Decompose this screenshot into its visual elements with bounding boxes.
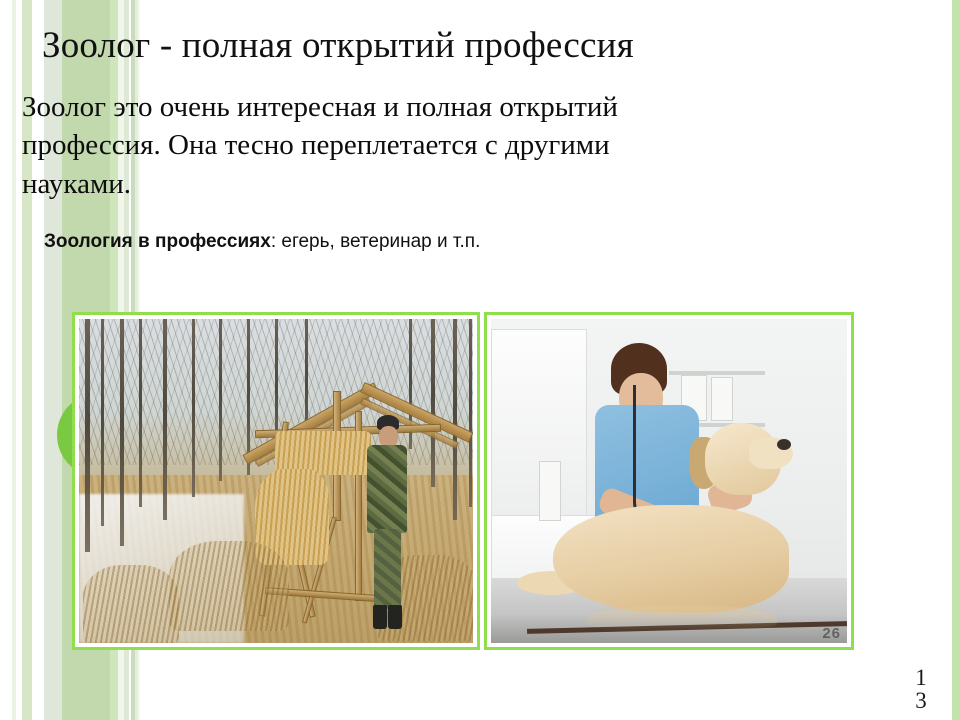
dry-grass [83,565,179,643]
clinic-supply-box [711,377,733,421]
dog-nose [777,439,791,450]
professions-note-text: : егерь, ветеринар и т.п. [271,231,481,252]
picture-group: 26 [72,312,854,650]
dry-grass [169,541,289,631]
slide-canvas: Зоолог - полная открытий профессия Зооло… [0,0,960,720]
page-number-digit: 3 [904,689,938,712]
ranger-forest-scene [79,319,473,643]
body-paragraph: Зоолог это очень интересная и полная отк… [22,88,642,203]
ranger-trousers [374,529,401,609]
tree-trunk [120,319,124,546]
vet-clinic-scene: 26 [491,319,847,643]
page-title: Зоолог - полная открытий профессия [42,27,922,66]
right-edge-stripe [952,0,960,720]
dog-body [553,505,789,613]
ranger-boot [388,605,402,629]
ranger-jacket [367,445,407,533]
tree-trunk [453,319,457,520]
tree-trunk [163,319,167,520]
tree-trunk [431,319,435,487]
professions-note: Зоология в профессиях: егерь, ветеринар … [44,228,514,256]
tree-trunk [192,319,195,497]
tree-trunk [139,319,142,507]
image-vet-with-dog: 26 [484,312,854,650]
stripe-segment [12,0,16,720]
page-number: 13 [904,666,938,712]
page-number-digit: 1 [904,666,938,689]
professions-note-label: Зоология в профессиях [44,231,271,252]
clinic-dispenser [539,461,561,521]
tree-trunk [85,319,90,552]
image-watermark: 26 [822,625,841,642]
ranger-boot [373,605,387,629]
image-ranger-forest [72,312,480,650]
tree-trunk [101,319,104,526]
tree-trunk [469,319,472,507]
dog-reflection [587,605,777,631]
tree-trunk [219,319,222,481]
